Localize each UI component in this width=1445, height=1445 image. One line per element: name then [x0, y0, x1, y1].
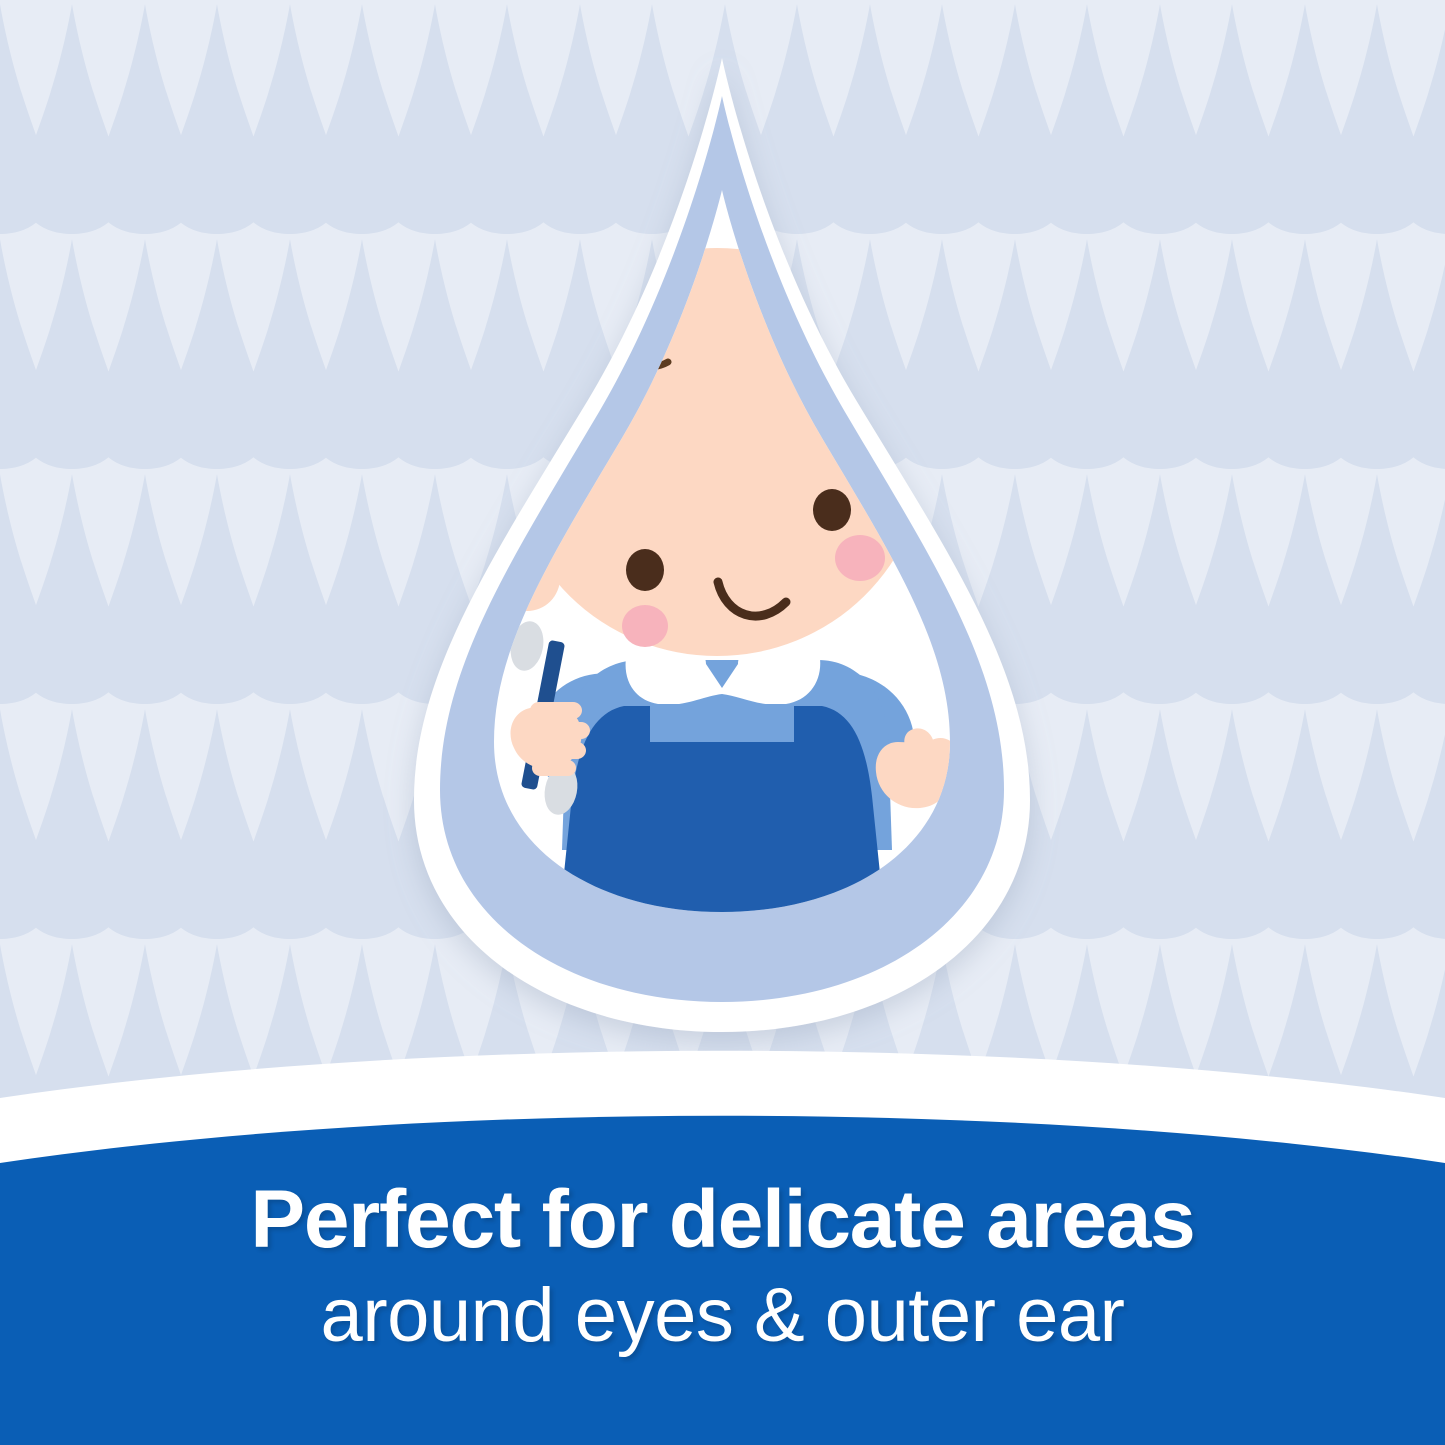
banner-blue-fill: [0, 1116, 1445, 1445]
product-banner-image: Perfect for delicate areas around eyes &…: [0, 0, 1445, 1445]
bottom-banner: [0, 0, 1445, 1445]
